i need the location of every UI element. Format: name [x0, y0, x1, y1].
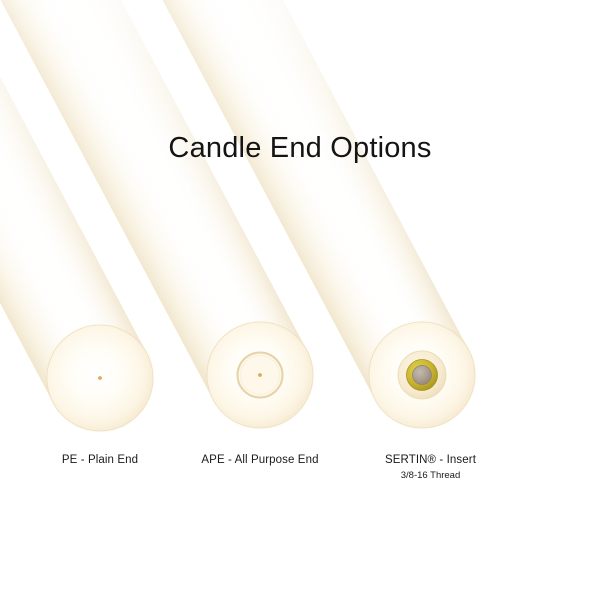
page-title: Candle End Options — [0, 132, 600, 165]
insert-metal-core — [413, 366, 432, 385]
candle-sublabel-sertin: 3/8-16 Thread — [348, 470, 513, 481]
candle-label-pe: PE - Plain End — [20, 454, 180, 466]
candle-label-sertin: SERTIN® - Insert — [348, 454, 513, 466]
wick-center-dot-plain — [98, 376, 102, 380]
candle-end-options-illustration — [0, 0, 600, 600]
wick-center-dot-bore — [258, 373, 262, 377]
candle-label-ape: APE - All Purpose End — [175, 454, 345, 466]
